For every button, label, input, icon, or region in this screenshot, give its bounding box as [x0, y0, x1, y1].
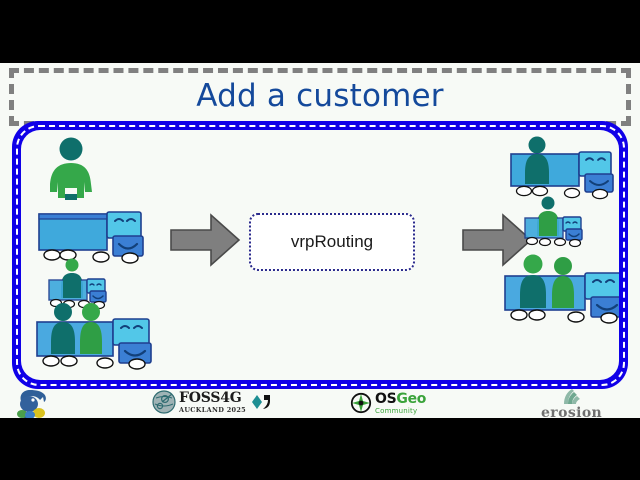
foss4g-logo: FOSS4G AUCKLAND 2025: [152, 390, 276, 414]
footer-logos: FOSS4G AUCKLAND 2025 OSGeo Community: [0, 389, 640, 418]
content-frame: vrpRouting: [12, 121, 628, 389]
foss4g-title: FOSS4G: [179, 390, 242, 406]
content-inner: vrpRouting: [21, 130, 619, 380]
input-group: [29, 130, 169, 380]
letterbox-bottom-bar: [0, 418, 640, 480]
process-box[interactable]: vrpRouting: [249, 213, 415, 271]
foss4g-subtitle: AUCKLAND 2025: [179, 407, 246, 414]
osgeo-subtitle: Community: [375, 408, 426, 415]
truck-icon: [519, 196, 597, 254]
truck-icon: [33, 302, 161, 372]
postgresql-logo: [13, 387, 53, 421]
page-title: Add a customer: [196, 81, 444, 114]
screen: Add a customer: [0, 0, 640, 480]
foss4g-text: FOSS4G AUCKLAND 2025: [179, 390, 246, 414]
slide: Add a customer: [0, 63, 640, 418]
pipeline-diagram: vrpRouting: [21, 130, 619, 380]
compass-icon: [350, 392, 372, 414]
foss4g-globe-icon: [152, 390, 176, 414]
erosion-logo: erosion: [541, 388, 602, 420]
foss4g-mark-icon: [250, 392, 276, 412]
vrp-routing-label: vrpRouting: [291, 232, 373, 252]
vrp-routing-box[interactable]: vrpRouting: [249, 213, 415, 271]
osgeo-text: OSGeo Community: [375, 391, 426, 415]
elephant-icon: [13, 387, 53, 421]
person-icon: [41, 136, 101, 202]
truck-icon: [501, 254, 619, 326]
arrow-right-icon: [169, 212, 241, 268]
letterbox-top-bar: [0, 0, 640, 63]
erosion-mark-icon: [562, 388, 582, 405]
output-group: [489, 130, 619, 380]
truck-icon: [507, 136, 619, 204]
title-frame: Add a customer: [9, 68, 631, 126]
osgeo-title: OSGeo: [375, 391, 426, 407]
osgeo-logo: OSGeo Community: [350, 391, 426, 415]
